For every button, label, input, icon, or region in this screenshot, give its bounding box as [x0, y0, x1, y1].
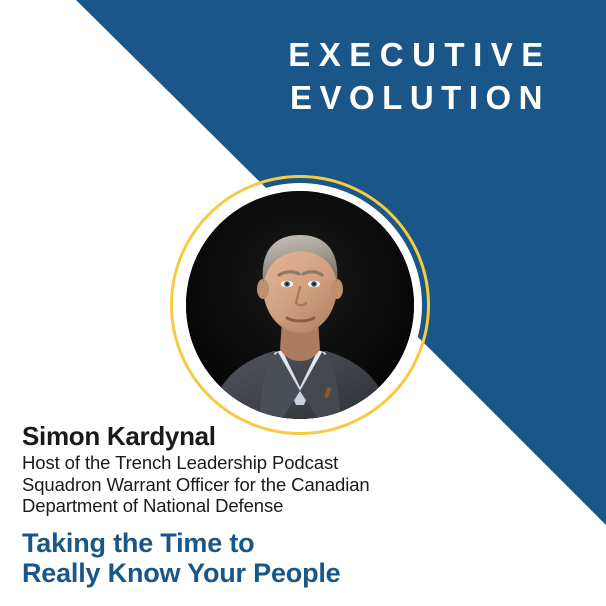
episode-title: Taking the Time to Really Know Your Peop…: [22, 528, 340, 588]
podcast-episode-cover: EXECUTIVE EVOLUTION: [0, 0, 606, 606]
guest-role-line-2: Squadron Warrant Officer for the Canadia…: [22, 474, 370, 496]
episode-title-line-1: Taking the Time to: [22, 528, 340, 558]
guest-name: Simon Kardynal: [22, 421, 216, 452]
brand-wordmark: EXECUTIVE EVOLUTION: [250, 34, 590, 120]
guest-portrait: [170, 175, 430, 435]
guest-photo-illustration: [186, 191, 414, 419]
guest-role: Host of the Trench Leadership Podcast Sq…: [22, 452, 370, 517]
guest-photo: [186, 191, 414, 419]
episode-title-line-2: Really Know Your People: [22, 558, 340, 588]
brand-wordmark-line-2: EVOLUTION: [250, 77, 590, 120]
brand-wordmark-line-1: EXECUTIVE: [250, 34, 590, 77]
guest-role-line-1: Host of the Trench Leadership Podcast: [22, 452, 370, 474]
guest-role-line-3: Department of National Defense: [22, 495, 370, 517]
